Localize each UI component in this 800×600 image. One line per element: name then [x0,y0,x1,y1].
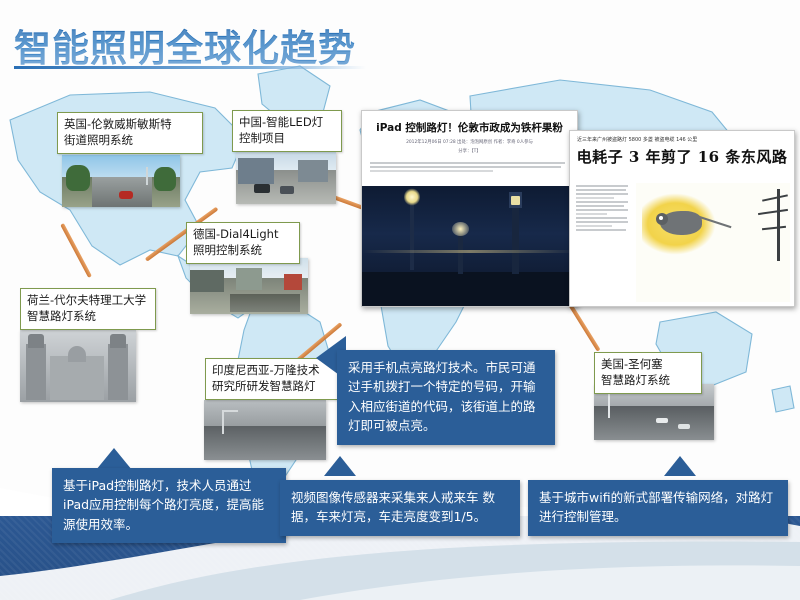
newspaper-text-column [576,183,628,300]
callout-pointer-ipad [96,448,132,470]
connector-rod-netherlands [60,223,92,278]
label-indonesia: 印度尼西亚-万隆技术 研究所研发智慧路灯 [205,358,343,400]
photo-indonesia-road [204,400,326,460]
label-uk: 英国-伦敦威斯敏斯特 街道照明系统 [57,112,203,154]
label-netherlands: 荷兰-代尔夫特理工大学 智慧路灯系统 [20,288,156,330]
clipping-ipad-article: iPad 控制路灯！伦敦市政成为铁杆果粉 2012年12月06日 07:28 出… [361,110,578,307]
callout-pointer-video [324,456,356,476]
callout-ipad-control: 基于iPad控制路灯，技术人员通过iPad应用控制每个路灯亮度，提高能源使用效率… [52,468,286,543]
photo-london-night [362,186,577,306]
article-headline: iPad 控制路灯！伦敦市政成为铁杆果粉 [362,111,577,139]
photo-netherlands-building [20,330,136,402]
photo-germany-highway [190,258,308,314]
photo-china-street [236,152,336,204]
callout-city-wifi: 基于城市wifi的新式部署传输网络，对路灯进行控制管理。 [528,480,788,536]
callout-video-sensor: 视频图像传感器来采集来人戒来车 数据，车来灯亮，车走亮度变到1/5。 [280,480,520,536]
label-germany: 德国-Dial4Light 照明控制系统 [186,222,300,264]
callout-phone-control: 采用手机点亮路灯技术。市民可通过手机拨打一个特定的号码，开输入相应街道的代码，该… [337,350,555,445]
label-china: 中国-智能LED灯 控制项目 [232,110,342,152]
article-source: 分享：【T】 [362,145,577,158]
label-usa: 美国-圣何塞 智慧路灯系统 [594,352,702,394]
newspaper-kicker: 近三年来广州被盗路灯 5800 多盏 被盗电缆 146 公里 [570,131,794,144]
newspaper-cartoon [636,183,790,302]
slide-canvas: 智能照明全球化趋势 [0,0,800,600]
callout-pointer-wifi [664,456,696,476]
article-body-lines [362,158,577,172]
newspaper-headline: 电耗子 3 年剪了 16 条东风路 [570,144,794,171]
page-title: 智能照明全球化趋势 [14,18,356,72]
photo-uk-street [62,155,180,207]
clipping-newspaper: 近三年来广州被盗路灯 5800 多盏 被盗电缆 146 公里 电耗子 3 年剪了… [569,130,795,307]
